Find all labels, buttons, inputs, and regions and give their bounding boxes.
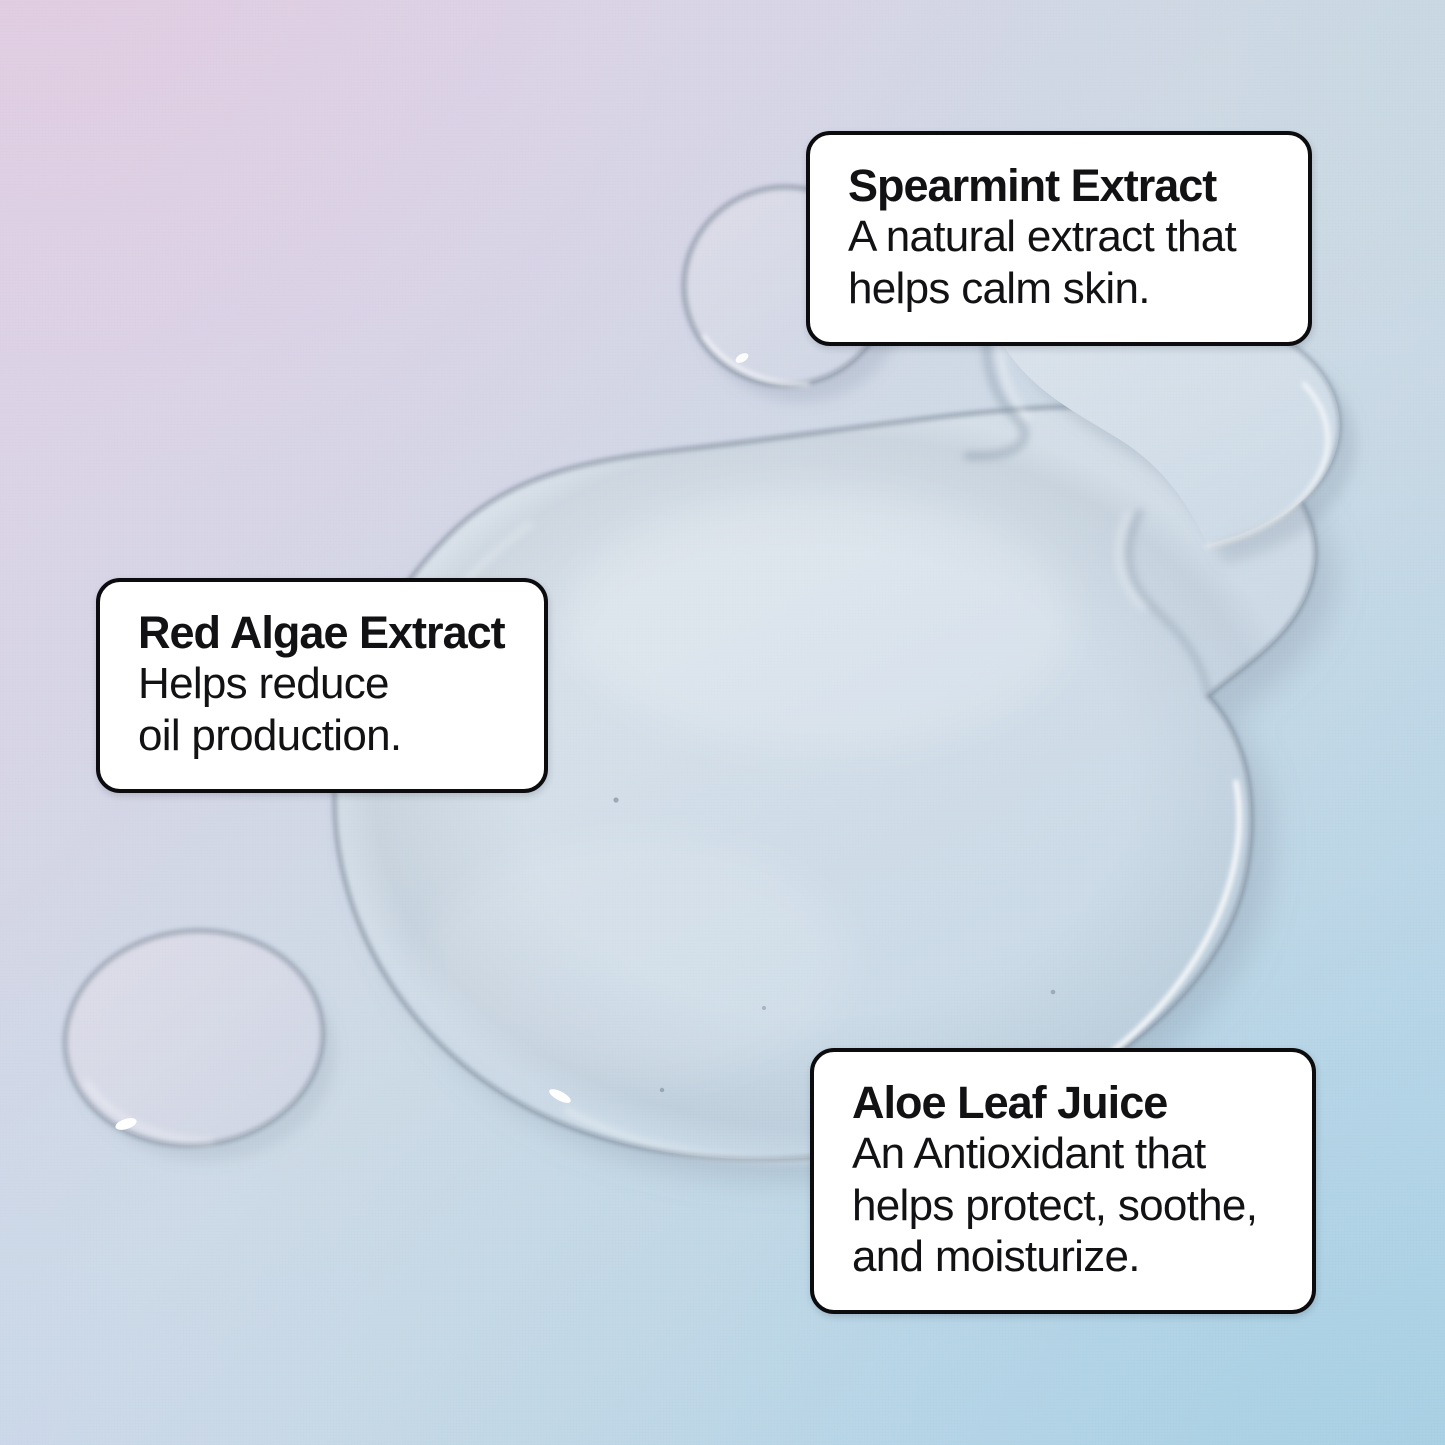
callout-body-line: oil production. xyxy=(138,710,514,761)
callout-title: Spearmint Extract xyxy=(848,161,1278,211)
callout-title: Red Algae Extract xyxy=(138,608,514,658)
callout-body-line: helps calm skin. xyxy=(848,263,1278,314)
small-droplet-bottom-left xyxy=(55,918,335,1161)
callout-body: Helps reduce oil production. xyxy=(138,658,514,761)
callout-spearmint-extract[interactable]: Spearmint Extract A natural extract that… xyxy=(806,131,1312,346)
callout-aloe-leaf-juice[interactable]: Aloe Leaf Juice An Antioxidant that help… xyxy=(810,1048,1316,1314)
callout-title: Aloe Leaf Juice xyxy=(852,1078,1282,1128)
callout-body-line: Helps reduce xyxy=(138,658,514,709)
callout-body-line: An Antioxidant that xyxy=(852,1128,1282,1179)
callout-body: An Antioxidant that helps protect, sooth… xyxy=(852,1128,1282,1282)
callout-body: A natural extract that helps calm skin. xyxy=(848,211,1278,314)
callout-body-line: helps protect, soothe, xyxy=(852,1180,1282,1231)
callout-body-line: A natural extract that xyxy=(848,211,1278,262)
callout-body-line: and moisturize. xyxy=(852,1231,1282,1282)
callout-red-algae-extract[interactable]: Red Algae Extract Helps reduce oil produ… xyxy=(96,578,548,793)
infographic-canvas: Spearmint Extract A natural extract that… xyxy=(0,0,1445,1445)
